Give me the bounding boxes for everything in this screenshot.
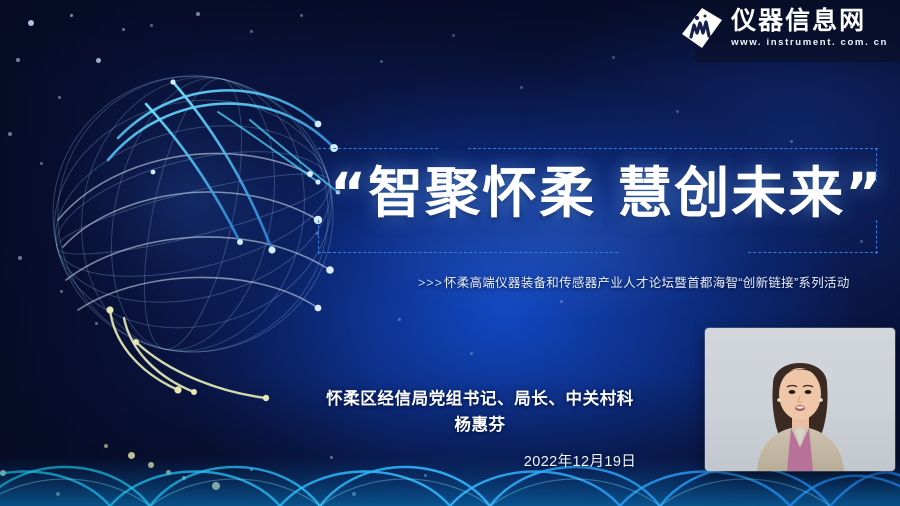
slide-title: “智聚怀柔 慧创未来” (330, 165, 875, 223)
logo-name-en: www. instrument. com. cn (731, 37, 888, 48)
logo-name-cn: 仪器信息网 (731, 8, 888, 35)
speaker-name: 杨惠芬 (250, 411, 710, 435)
speaker-portrait (705, 328, 895, 471)
instrument-diamond-logo-icon (680, 6, 724, 50)
speaker-title: 怀柔区经信局党组书记、局长、中关村科 (250, 385, 710, 409)
presentation-slide: “智聚怀柔 慧创未来” >>>怀柔高端仪器装备和传感器产业人才论坛暨首都海智“创… (0, 0, 900, 506)
site-logo[interactable]: 仪器信息网 www. instrument. com. cn (680, 6, 888, 50)
slide-subtitle: >>>怀柔高端仪器装备和传感器产业人才论坛暨首都海智“创新链接”系列活动 (418, 272, 878, 291)
slide-date: 2022年12月19日 (450, 450, 710, 471)
speaker-video-overlay[interactable] (705, 328, 895, 471)
subtitle-text: 怀柔高端仪器装备和传感器产业人才论坛暨首都海智“创新链接”系列活动 (444, 276, 850, 290)
subtitle-arrows-icon: >>> (418, 276, 443, 290)
